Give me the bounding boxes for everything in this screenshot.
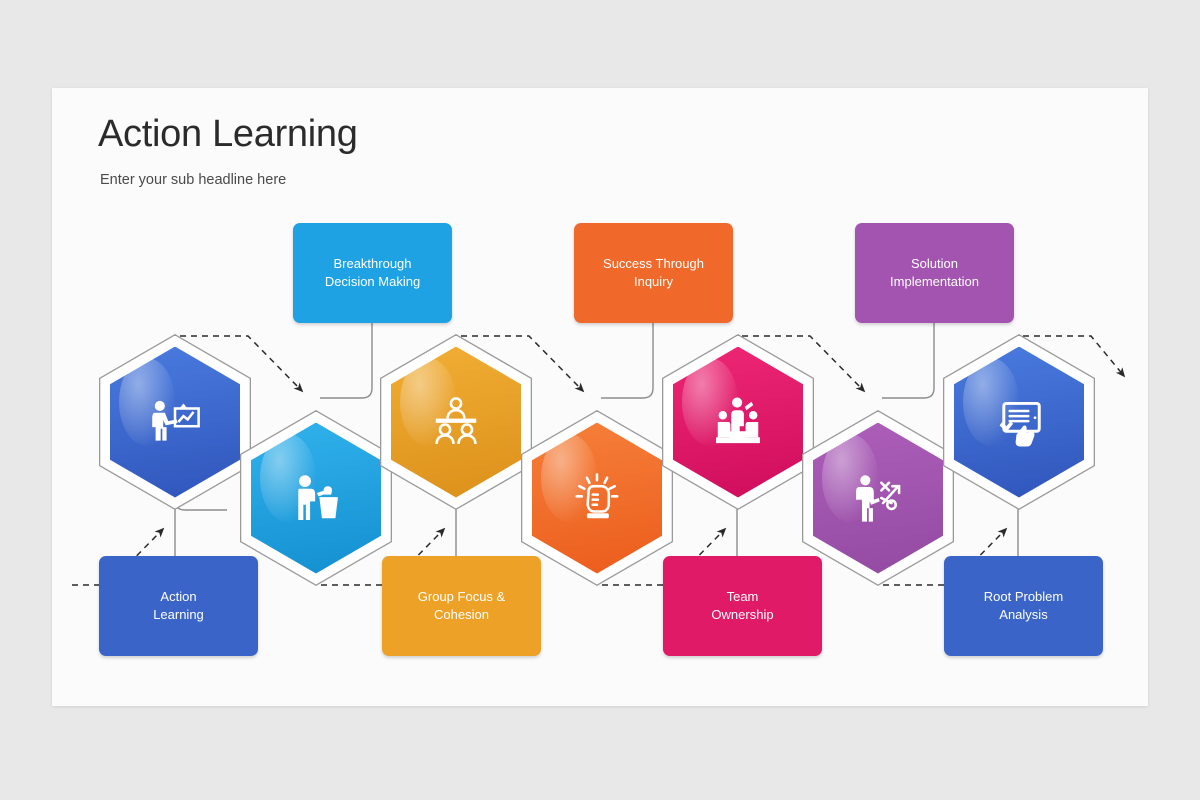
group-meeting-icon	[391, 347, 521, 498]
tablet-hand-icon	[954, 347, 1084, 498]
bottom-label-text: TeamOwnership	[711, 588, 773, 625]
bottom-label-box[interactable]: TeamOwnership	[663, 556, 822, 656]
bottom-label-box[interactable]: Group Focus &Cohesion	[382, 556, 541, 656]
top-label-text: BreakthroughDecision Making	[325, 255, 420, 292]
strategy-person-icon	[813, 423, 943, 574]
hexagon-node[interactable]	[802, 410, 954, 586]
hexagon-node[interactable]	[99, 334, 251, 510]
bottom-label-text: ActionLearning	[153, 588, 204, 625]
raised-fist-icon	[532, 423, 662, 574]
team-podium-icon	[673, 347, 803, 498]
presenter-chart-icon	[110, 347, 240, 498]
hexagon-node[interactable]	[521, 410, 673, 586]
top-label-text: SolutionImplementation	[890, 255, 979, 292]
podium-speaker-icon	[251, 423, 381, 574]
top-label-box[interactable]: SolutionImplementation	[855, 223, 1014, 323]
bottom-label-text: Root ProblemAnalysis	[984, 588, 1063, 625]
bottom-label-box[interactable]: ActionLearning	[99, 556, 258, 656]
hexagon-node[interactable]	[662, 334, 814, 510]
top-label-text: Success ThroughInquiry	[603, 255, 704, 292]
bottom-label-text: Group Focus &Cohesion	[418, 588, 505, 625]
top-label-box[interactable]: Success ThroughInquiry	[574, 223, 733, 323]
hexagon-node[interactable]	[240, 410, 392, 586]
hexagon-node[interactable]	[943, 334, 1095, 510]
slide-canvas: Action Learning Enter your sub headline …	[52, 88, 1148, 706]
hexagon-node[interactable]	[380, 334, 532, 510]
top-label-box[interactable]: BreakthroughDecision Making	[293, 223, 452, 323]
bottom-label-box[interactable]: Root ProblemAnalysis	[944, 556, 1103, 656]
